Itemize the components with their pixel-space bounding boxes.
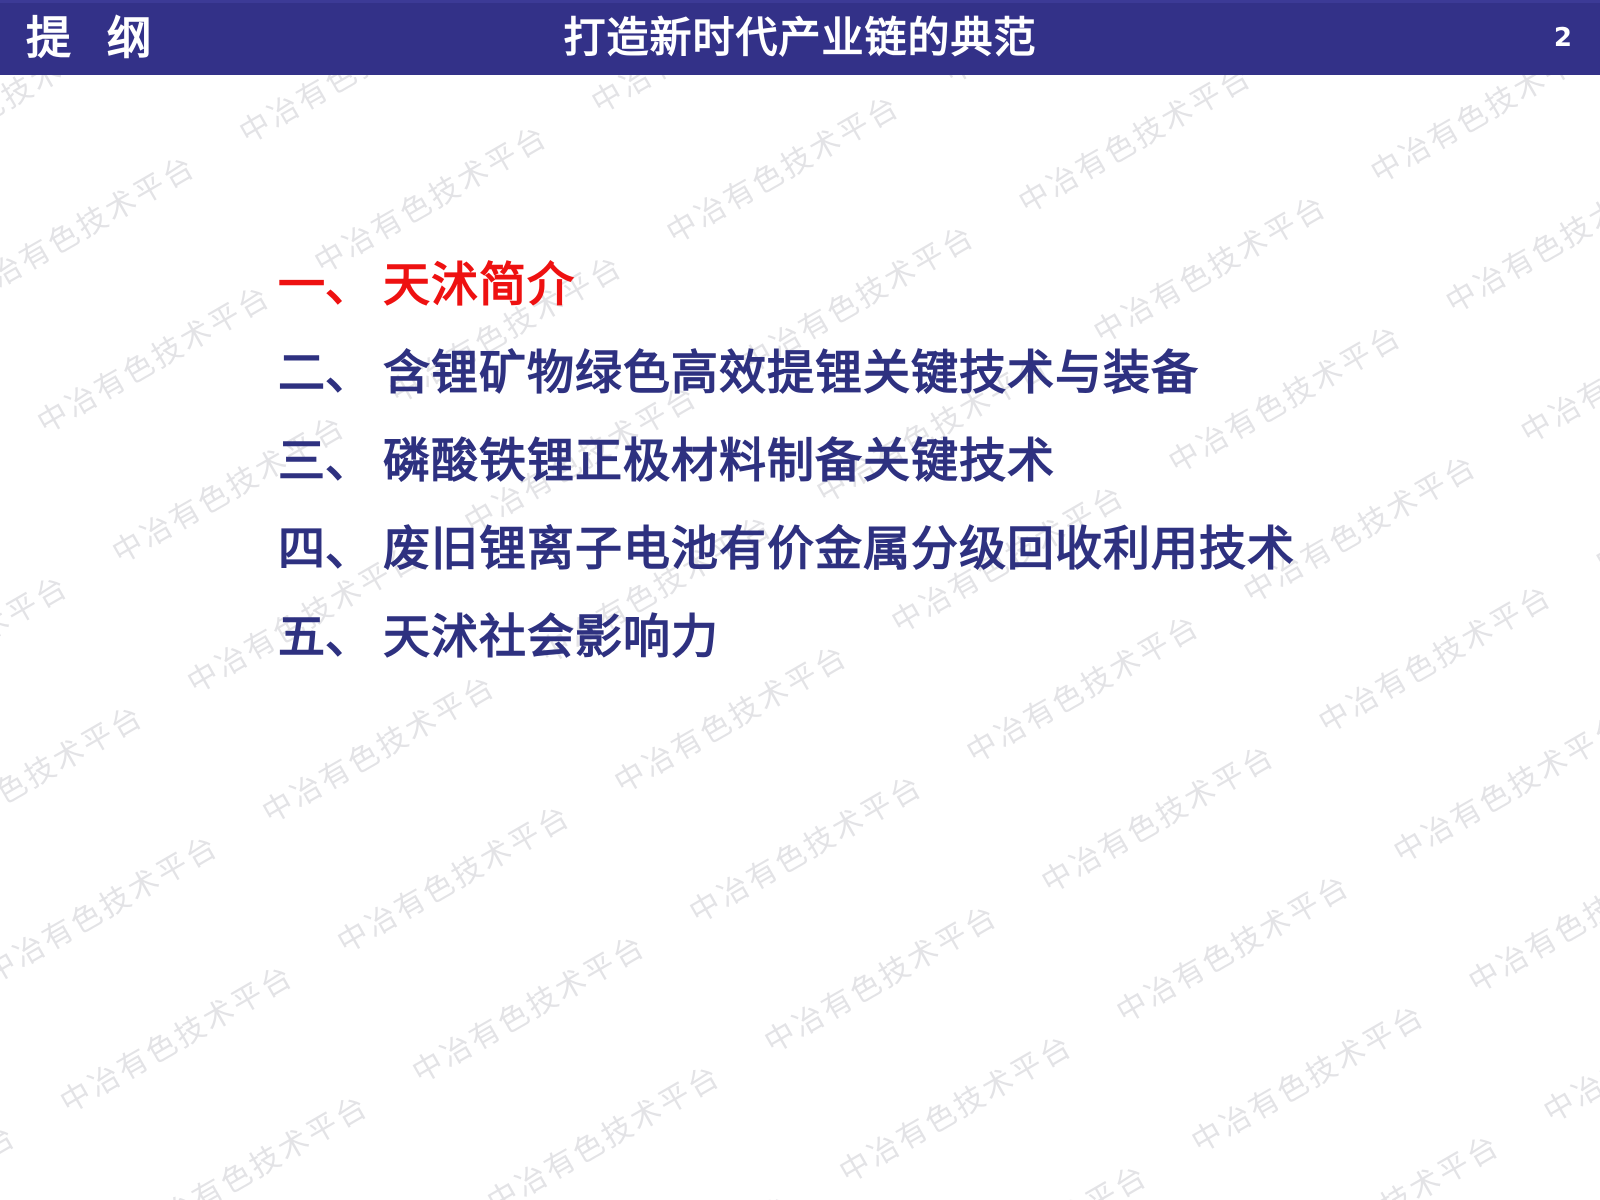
watermark-text: 中冶有色技术平台 xyxy=(680,762,931,932)
watermark-tile: 中冶有色技术平台 xyxy=(1056,801,1408,1091)
outline-item-marker: 一、 xyxy=(278,262,383,309)
watermark-text: 中冶有色技术平台 xyxy=(402,922,653,1092)
watermark-tile: 中冶有色技术平台 xyxy=(854,1091,1206,1200)
watermark-tile: 中冶有色技术平台 xyxy=(0,502,127,792)
watermark-text: 中冶有色技术平台 xyxy=(477,1051,728,1200)
outline-item-label: 含锂矿物绿色高效提锂关键技术与装备 xyxy=(383,350,1199,397)
watermark-text: 中冶有色技术平台 xyxy=(830,1021,1081,1191)
watermark-tile: 中冶有色技术平台 xyxy=(1281,1191,1600,1200)
outline-item-marker: 三、 xyxy=(278,438,383,485)
watermark-tile: 中冶有色技术平台 xyxy=(1206,1061,1558,1200)
watermark-tile: 中冶有色技术平台 xyxy=(629,702,981,992)
watermark-tile: 中冶有色技术平台 xyxy=(981,672,1333,962)
watermark-tile: 中冶有色技术平台 xyxy=(1558,1031,1600,1200)
watermark-tile: 中冶有色技术平台 xyxy=(0,892,352,1182)
slide-canvas: 中冶有色技术平台中冶有色技术平台中冶有色技术平台中冶有色技术平台中冶有色技术平台… xyxy=(0,0,1600,1200)
watermark-tile: 中冶有色技术平台 xyxy=(352,862,704,1152)
watermark-text: 中冶有色技术平台 xyxy=(252,662,503,832)
watermark-tile: 中冶有色技术平台 xyxy=(0,1182,150,1200)
watermark-tile: 中冶有色技术平台 xyxy=(502,1121,854,1200)
watermark-text: 中冶有色技术平台 xyxy=(755,891,1006,1061)
watermark-tile: 中冶有色技术平台 xyxy=(1408,771,1600,1061)
watermark-tile: 中冶有色技术平台 xyxy=(0,762,277,1052)
watermark-text: 中冶有色技术平台 xyxy=(1586,411,1600,581)
outline-item-label: 天沭简介 xyxy=(383,262,575,309)
watermark-text: 中冶有色技术平台 xyxy=(657,82,908,252)
watermark-text: 中冶有色技术平台 xyxy=(1107,861,1358,1031)
outline-item-marker: 二、 xyxy=(278,350,383,397)
watermark-tile: 中冶有色技术平台 xyxy=(1483,901,1600,1191)
outline-item-label: 磷酸铁锂正极材料制备关键技术 xyxy=(383,438,1055,485)
watermark-text: 中冶有色技术平台 xyxy=(27,272,278,442)
watermark-tile: 中冶有色技术平台 xyxy=(0,82,254,372)
outline-item-label: 废旧锂离子电池有价金属分级回收利用技术 xyxy=(383,526,1295,573)
watermark-text: 中冶有色技术平台 xyxy=(305,112,556,282)
outline-item-label: 天沭社会影响力 xyxy=(383,614,719,661)
header-main-title: 打造新时代产业链的典范 xyxy=(0,17,1600,59)
watermark-text: 中冶有色技术平台 xyxy=(0,1112,24,1200)
watermark-tile: 中冶有色技术平台 xyxy=(779,961,1131,1200)
watermark-tile: 中冶有色技术平台 xyxy=(0,1052,75,1200)
outline-item[interactable]: 四、废旧锂离子电池有价金属分级回收利用技术 xyxy=(278,526,1578,573)
watermark-text: 中冶有色技术平台 xyxy=(1459,831,1600,1001)
watermark-text: 中冶有色技术平台 xyxy=(0,692,151,862)
outline-list: 一、天沭简介二、含锂矿物绿色高效提锂关键技术与装备三、磷酸铁锂正极材料制备关键技… xyxy=(278,262,1578,661)
watermark-tile: 中冶有色技术平台 xyxy=(150,1152,502,1200)
watermark-tile: 中冶有色技术平台 xyxy=(277,732,629,1022)
outline-item-marker: 五、 xyxy=(278,614,383,661)
watermark-tile: 中冶有色技术平台 xyxy=(427,992,779,1200)
watermark-text: 中冶有色技术平台 xyxy=(1182,991,1433,1161)
watermark-tile: 中冶有色技术平台 xyxy=(1333,641,1600,931)
watermark-text: 中冶有色技术平台 xyxy=(0,562,76,732)
outline-item[interactable]: 二、含锂矿物绿色高效提锂关键技术与装备 xyxy=(278,350,1578,397)
outline-item[interactable]: 五、天沭社会影响力 xyxy=(278,614,1578,661)
watermark-text: 中冶有色技术平台 xyxy=(1534,961,1600,1131)
watermark-text: 中冶有色技术平台 xyxy=(1032,731,1283,901)
watermark-text: 中冶有色技术平台 xyxy=(1257,1121,1508,1200)
watermark-text: 中冶有色技术平台 xyxy=(0,432,1,602)
page-number: 2 xyxy=(1554,25,1572,51)
outline-item-marker: 四、 xyxy=(278,526,383,573)
watermark-text: 中冶有色技术平台 xyxy=(0,822,226,992)
watermark-text: 中冶有色技术平台 xyxy=(552,1181,803,1200)
outline-item[interactable]: 一、天沭简介 xyxy=(278,262,1578,309)
watermark-text: 中冶有色技术平台 xyxy=(327,792,578,962)
watermark-text: 中冶有色技术平台 xyxy=(0,142,203,312)
watermark-text: 中冶有色技术平台 xyxy=(50,952,301,1122)
watermark-tile: 中冶有色技术平台 xyxy=(1131,931,1483,1200)
watermark-text: 中冶有色技术平台 xyxy=(905,1151,1156,1200)
watermark-tile: 中冶有色技术平台 xyxy=(704,832,1056,1122)
outline-item[interactable]: 三、磷酸铁锂正极材料制备关键技术 xyxy=(278,438,1578,485)
watermark-text: 中冶有色技术平台 xyxy=(1009,52,1260,222)
watermark-text: 中冶有色技术平台 xyxy=(125,1082,376,1200)
watermark-tile: 中冶有色技术平台 xyxy=(75,1022,427,1200)
slide-header-bar: 提 纲 打造新时代产业链的典范 2 xyxy=(0,0,1600,75)
watermark-text: 中冶有色技术平台 xyxy=(1384,701,1600,871)
watermark-tile: 中冶有色技术平台 xyxy=(0,632,202,922)
watermark-tile: 中冶有色技术平台 xyxy=(0,372,52,662)
